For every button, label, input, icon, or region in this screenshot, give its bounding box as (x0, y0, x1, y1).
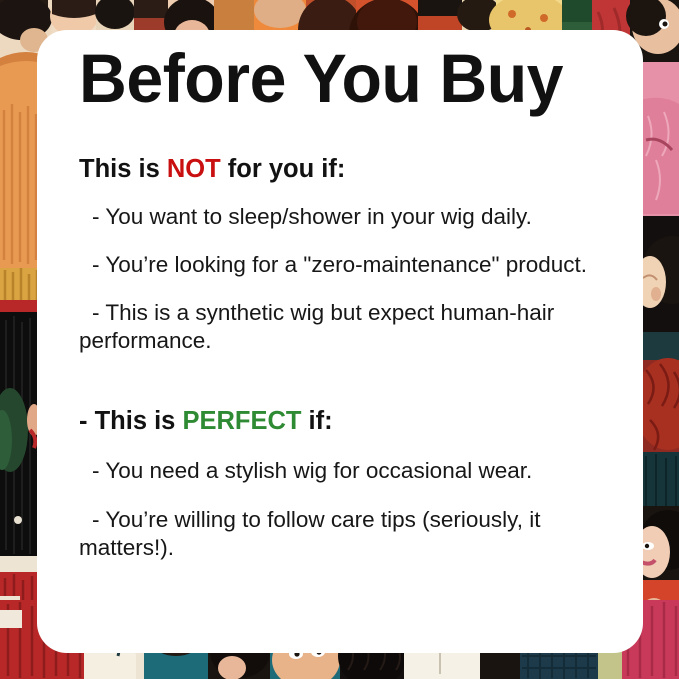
section-perfect-for-you: - This is PERFECT if: - You need a styli… (79, 407, 629, 562)
info-card: Before You Buy This is NOT for you if: -… (37, 30, 643, 653)
not-for-you-list: - You want to sleep/shower in your wig d… (79, 203, 629, 355)
list-item: - You’re looking for a "zero-maintenance… (79, 251, 629, 279)
section-heading-perfect-suffix: if: (301, 407, 332, 435)
card-content: Before You Buy This is NOT for you if: -… (79, 44, 629, 562)
list-item: - You need a stylish wig for occasional … (79, 457, 629, 485)
list-item: - This is a synthetic wig but expect hum… (79, 299, 629, 356)
section-heading-perfect-highlight: PERFECT (182, 407, 301, 435)
list-spacer (79, 486, 629, 506)
section-heading-perfect-prefix: - This is (79, 407, 182, 435)
section-heading-not-highlight: NOT (167, 155, 221, 183)
list-item: - You want to sleep/shower in your wig d… (79, 203, 629, 231)
section-heading-not: This is NOT for you if: (79, 155, 629, 184)
page-title: Before You Buy (79, 44, 607, 113)
list-spacer (79, 280, 629, 299)
section-not-for-you: This is NOT for you if: - You want to sl… (79, 155, 629, 355)
list-item: - You’re willing to follow care tips (se… (79, 506, 629, 563)
list-spacer (79, 231, 629, 251)
section-heading-perfect: - This is PERFECT if: (79, 407, 629, 436)
section-heading-not-suffix: for you if: (221, 155, 346, 183)
section-heading-not-prefix: This is (79, 155, 167, 183)
perfect-for-you-list: - You need a stylish wig for occasional … (79, 457, 629, 562)
